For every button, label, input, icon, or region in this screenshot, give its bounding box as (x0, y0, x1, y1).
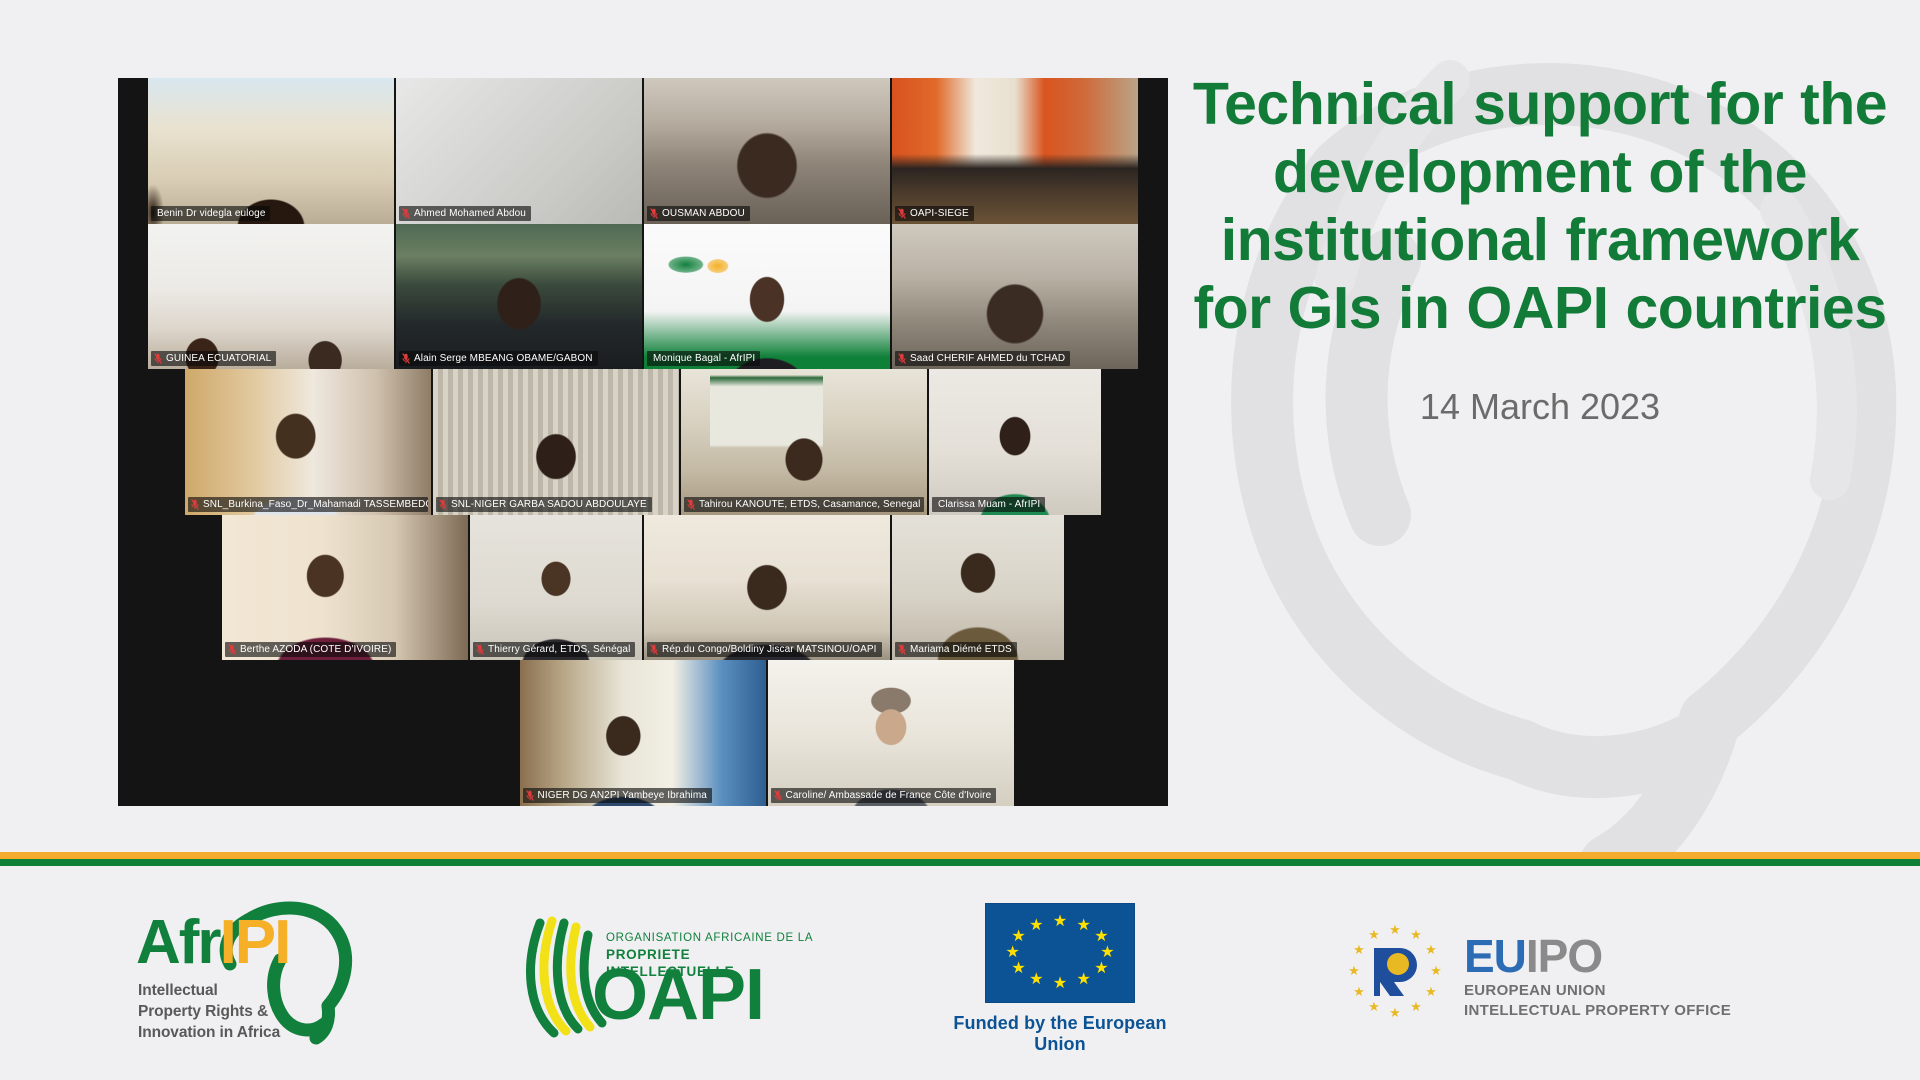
video-tile[interactable]: Ahmed Mohamed Abdou (396, 78, 642, 224)
participant-name-label: Berthe AZODA (COTE D'IVOIRE) (225, 642, 396, 657)
participant-name-label: Rép.du Congo/Boldiny Jiscar MATSINOU/OAP… (647, 642, 882, 657)
eu-funding-slot: ★ ★ ★ ★ ★ ★ ★ ★ ★ ★ ★ ★ Funded by the Eu… (860, 866, 1260, 1080)
euipo-subtitle-line2: INTELLECTUAL PROPERTY OFFICE (1464, 1002, 1731, 1020)
footer-logo-bar: AfrIPI Intellectual Property Rights & In… (0, 866, 1920, 1080)
svg-text:★: ★ (1368, 999, 1380, 1014)
afripi-logo-slot: AfrIPI Intellectual Property Rights & In… (0, 866, 480, 1080)
participant-name-label: Monique Bagal - AfrIPI (647, 351, 760, 366)
afripi-word-ipi: IPI (220, 908, 290, 977)
participant-silhouette (892, 224, 1138, 370)
video-tile[interactable]: GUINEA ECUATORIAL (148, 224, 394, 370)
participant-name: SNL-NIGER GARBA SADOU ABDOULAYE (451, 498, 647, 511)
participant-name: SNL_Burkina_Faso_Dr_Mahamadi TASSEMBEDO (203, 498, 428, 511)
mic-muted-icon (526, 790, 534, 801)
participant-silhouette (470, 515, 642, 661)
euipo-logo-slot: ★ ★ ★ ★ ★ ★ ★ ★ ★ ★ ★ ★ (1260, 866, 1820, 1080)
presentation-slide: Benin Dr videgla euloge Ahmed Mohamed Ab… (0, 0, 1920, 1080)
participant-name: Alain Serge MBEANG OBAME/GABON (414, 352, 593, 365)
euipo-mark-icon: ★ ★ ★ ★ ★ ★ ★ ★ ★ ★ ★ ★ (1340, 918, 1450, 1028)
page-title: Technical support for the development of… (1190, 70, 1890, 342)
euipo-word-eu: EU (1464, 930, 1526, 982)
svg-text:★: ★ (1389, 1005, 1401, 1020)
euipo-word-ipo: IPO (1526, 930, 1602, 982)
participant-name: Benin Dr videgla euloge (157, 207, 265, 220)
participant-name: Monique Bagal - AfrIPI (653, 352, 755, 365)
participant-name-label: Caroline/ Ambassade de France Côte d'Ivo… (771, 788, 997, 803)
participant-silhouette (681, 369, 927, 515)
participant-silhouette (222, 515, 468, 661)
participant-name-label: Clarissa Muam - AfrIPI (932, 497, 1045, 512)
oapi-wordmark: OAPI (592, 955, 764, 1035)
svg-text:★: ★ (1425, 942, 1437, 957)
participant-silhouette (520, 660, 766, 806)
mic-muted-icon (687, 499, 695, 510)
afripi-wordmark: AfrIPI (136, 912, 289, 974)
participant-name-label: OUSMAN ABDOU (647, 206, 750, 221)
participant-silhouette (644, 515, 890, 661)
afripi-tagline: Intellectual Property Rights & Innovatio… (138, 980, 280, 1043)
mic-muted-icon (228, 644, 236, 655)
svg-text:★: ★ (1389, 922, 1401, 937)
video-tile[interactable]: SNL_Burkina_Faso_Dr_Mahamadi TASSEMBEDO (185, 369, 431, 515)
participant-name-label: SNL-NIGER GARBA SADOU ABDOULAYE (436, 497, 652, 512)
participant-name: Clarissa Muam - AfrIPI (938, 498, 1040, 511)
video-tile[interactable]: OUSMAN ABDOU (644, 78, 890, 224)
meeting-room-overlay (892, 78, 1138, 224)
mic-muted-icon (402, 208, 410, 219)
video-tile[interactable]: Berthe AZODA (COTE D'IVOIRE) (222, 515, 468, 661)
euipo-wordmark: EUIPO (1464, 932, 1731, 980)
video-tile[interactable]: Mariama Diémé ETDS (892, 515, 1064, 661)
mic-muted-icon (650, 208, 658, 219)
participant-name: Caroline/ Ambassade de France Côte d'Ivo… (786, 789, 992, 802)
event-date: 14 March 2023 (1190, 386, 1890, 428)
mic-muted-icon (898, 208, 906, 219)
video-grid-row: Benin Dr videgla euloge Ahmed Mohamed Ab… (118, 78, 1168, 224)
svg-text:★: ★ (1353, 942, 1365, 957)
eu-funding-logo: ★ ★ ★ ★ ★ ★ ★ ★ ★ ★ ★ ★ Funded by the Eu… (945, 903, 1175, 1043)
video-tile[interactable]: Thierry Gérard, ETDS, Sénégal (470, 515, 642, 661)
mic-muted-icon (402, 353, 410, 364)
video-tile[interactable]: Monique Bagal - AfrIPI (644, 224, 890, 370)
video-tile[interactable]: Clarissa Muam - AfrIPI (929, 369, 1101, 515)
mic-muted-icon (476, 644, 484, 655)
participant-silhouette (929, 369, 1101, 515)
mic-muted-icon (898, 353, 906, 364)
participant-name: Thierry Gérard, ETDS, Sénégal (488, 643, 630, 656)
participant-name: Rép.du Congo/Boldiny Jiscar MATSINOU/OAP… (662, 643, 877, 656)
svg-text:★: ★ (1348, 963, 1360, 978)
video-grid-row: Berthe AZODA (COTE D'IVOIRE) Thierry Gér… (118, 515, 1168, 661)
participant-name-label: Benin Dr videgla euloge (151, 206, 270, 221)
afripi-tagline-line1: Intellectual (138, 980, 280, 1001)
video-thumbnail (396, 78, 642, 224)
participant-silhouette (892, 515, 1064, 661)
oapi-logo: ORGANISATION AFRICAINE DE LA PROPRIETE I… (520, 903, 820, 1043)
participant-name: Saad CHERIF AHMED du TCHAD (910, 352, 1065, 365)
video-grid-row: GUINEA ECUATORIAL Alain Serge MBEANG OBA… (118, 224, 1168, 370)
svg-text:★: ★ (1410, 999, 1422, 1014)
participant-name: Mariama Diémé ETDS (910, 643, 1012, 656)
video-tile[interactable]: Rép.du Congo/Boldiny Jiscar MATSINOU/OAP… (644, 515, 890, 661)
svg-text:★: ★ (1368, 927, 1380, 942)
mic-muted-icon (650, 644, 658, 655)
divider-amber-bar (0, 852, 1920, 859)
participant-name: NIGER DG AN2PI Yambeye Ibrahima (538, 789, 707, 802)
participant-name-label: SNL_Burkina_Faso_Dr_Mahamadi TASSEMBEDO (188, 497, 428, 512)
title-block: Technical support for the development of… (1190, 70, 1890, 428)
participant-silhouette (396, 224, 642, 370)
mic-muted-icon (439, 499, 447, 510)
participant-silhouette (644, 78, 890, 224)
participant-silhouette (185, 369, 431, 515)
euipo-logo: ★ ★ ★ ★ ★ ★ ★ ★ ★ ★ ★ ★ (1340, 913, 1740, 1033)
participant-name: Berthe AZODA (COTE D'IVOIRE) (240, 643, 391, 656)
participant-name-label: GUINEA ECUATORIAL (151, 351, 276, 366)
participant-name-label: Saad CHERIF AHMED du TCHAD (895, 351, 1070, 366)
participant-name-label: OAPI-SIEGE (895, 206, 974, 221)
afripi-tagline-line2: Property Rights & (138, 1001, 280, 1022)
afripi-tagline-line3: Innovation in Africa (138, 1022, 280, 1043)
participant-silhouette (433, 369, 679, 515)
video-tile[interactable]: Alain Serge MBEANG OBAME/GABON (396, 224, 642, 370)
video-tile[interactable]: OAPI-SIEGE (892, 78, 1138, 224)
divider-green-bar (0, 859, 1920, 866)
participant-name-label: Ahmed Mohamed Abdou (399, 206, 531, 221)
video-tile[interactable]: Caroline/ Ambassade de France Côte d'Ivo… (768, 660, 1014, 806)
eu-funding-caption: Funded by the European Union (945, 1013, 1175, 1055)
video-tile[interactable]: NIGER DG AN2PI Yambeye Ibrahima (520, 660, 766, 806)
participant-name: OAPI-SIEGE (910, 207, 969, 220)
mic-muted-icon (774, 790, 782, 801)
video-grid-row: SNL_Burkina_Faso_Dr_Mahamadi TASSEMBEDO … (118, 369, 1168, 515)
oapi-logo-slot: ORGANISATION AFRICAINE DE LA PROPRIETE I… (480, 866, 860, 1080)
svg-text:★: ★ (1353, 984, 1365, 999)
svg-text:★: ★ (1430, 963, 1442, 978)
mic-muted-icon (154, 353, 162, 364)
afripi-word-afr: Afr (136, 908, 220, 977)
participant-name: OUSMAN ABDOU (662, 207, 745, 220)
participant-silhouette (148, 78, 394, 224)
svg-text:★: ★ (1410, 927, 1422, 942)
participant-name: Ahmed Mohamed Abdou (414, 207, 526, 220)
euipo-subtitle-line1: EUROPEAN UNION (1464, 982, 1731, 1000)
participant-silhouette (148, 224, 394, 370)
participant-silhouette (644, 224, 890, 370)
oapi-subtitle-line1: ORGANISATION AFRICAINE DE LA (606, 931, 813, 946)
video-tile[interactable]: Saad CHERIF AHMED du TCHAD (892, 224, 1138, 370)
participant-name-label: NIGER DG AN2PI Yambeye Ibrahima (523, 788, 712, 803)
video-grid-row: NIGER DG AN2PI Yambeye Ibrahima Caroline… (118, 660, 1168, 806)
footer-divider (0, 852, 1920, 866)
video-tile[interactable]: Tahirou KANOUTE, ETDS, Casamance, Senega… (681, 369, 927, 515)
video-tile[interactable]: Benin Dr videgla euloge (148, 78, 394, 224)
video-conference-grid: Benin Dr videgla euloge Ahmed Mohamed Ab… (118, 78, 1168, 806)
eu-flag-icon: ★ ★ ★ ★ ★ ★ ★ ★ ★ ★ ★ ★ (985, 903, 1135, 1003)
participant-name-label: Mariama Diémé ETDS (895, 642, 1017, 657)
participant-silhouette (768, 660, 1014, 806)
video-tile[interactable]: SNL-NIGER GARBA SADOU ABDOULAYE (433, 369, 679, 515)
participant-name-label: Tahirou KANOUTE, ETDS, Casamance, Senega… (684, 497, 924, 512)
participant-name: GUINEA ECUATORIAL (166, 352, 271, 365)
participant-name: Tahirou KANOUTE, ETDS, Casamance, Senega… (699, 498, 920, 511)
euipo-text-block: EUIPO EUROPEAN UNION INTELLECTUAL PROPER… (1464, 926, 1731, 1020)
participant-name-label: Thierry Gérard, ETDS, Sénégal (473, 642, 635, 657)
participant-name-label: Alain Serge MBEANG OBAME/GABON (399, 351, 598, 366)
mic-muted-icon (191, 499, 199, 510)
svg-text:★: ★ (1425, 984, 1437, 999)
mic-muted-icon (898, 644, 906, 655)
afripi-logo: AfrIPI Intellectual Property Rights & In… (130, 898, 390, 1048)
